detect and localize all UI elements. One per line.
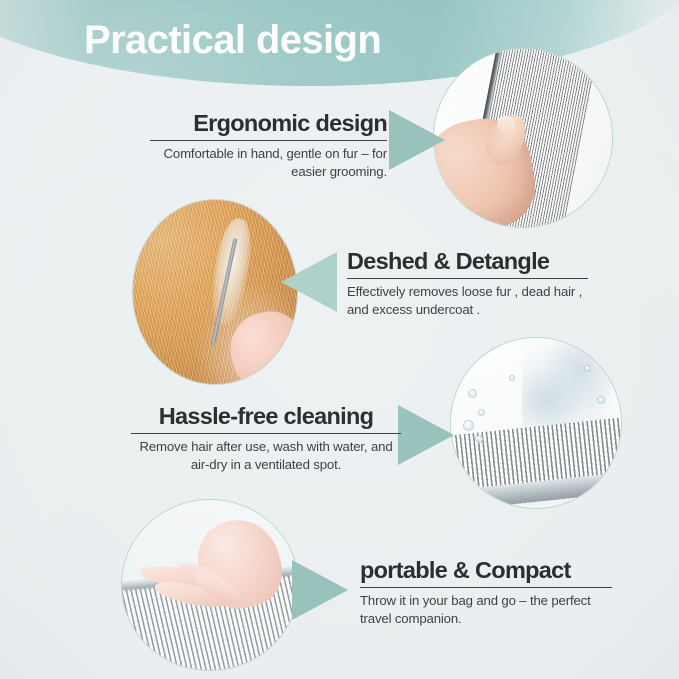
feature-description: Throw it in your bag and go – the perfec… [360, 592, 612, 627]
feature-heading: portable & Compact [360, 557, 612, 584]
water-droplet [584, 365, 591, 372]
pointer-triangle-portable [292, 560, 348, 620]
portable-artwork [122, 500, 298, 670]
heading-rule [150, 140, 387, 141]
product-feature-infographic: Practical design Ergonomic design Comfor… [0, 0, 679, 679]
heading-rule [347, 278, 588, 279]
feature-heading: Deshed & Detangle [347, 248, 588, 275]
cat-fur-combing-photo [132, 199, 298, 385]
feature-block-ergonomic-design: Ergonomic design Comfortable in hand, ge… [150, 110, 387, 180]
hand-holding-comb-photo [433, 48, 613, 228]
feature-description: Comfortable in hand, gentle on fur – for… [150, 145, 387, 180]
pointer-triangle-ergonomic [389, 110, 445, 170]
feature-description: Remove hair after use, wash with water, … [131, 438, 401, 473]
feature-block-hassle-free-cleaning: Hassle-free cleaning Remove hair after u… [131, 403, 401, 473]
feature-block-portable-compact: portable & Compact Throw it in your bag … [360, 557, 612, 627]
feature-heading: Hassle-free cleaning [131, 403, 401, 430]
water-droplet [463, 420, 474, 431]
hand-holding-comb-artwork [434, 49, 612, 227]
heading-rule [360, 587, 612, 588]
pointer-triangle-cleaning [398, 405, 454, 465]
feature-block-deshed-detangle: Deshed & Detangle Effectively removes lo… [347, 248, 588, 318]
water-droplet [468, 389, 477, 398]
hand-on-comb-teeth-photo [121, 499, 299, 671]
pointer-triangle-deshed [281, 252, 337, 312]
water-rinse-artwork [451, 338, 621, 508]
comb-water-rinse-photo [450, 337, 622, 509]
heading-rule [131, 433, 401, 434]
feature-heading: Ergonomic design [150, 110, 387, 137]
feature-description: Effectively removes loose fur , dead hai… [347, 283, 588, 318]
water-droplet [597, 396, 605, 404]
cat-fur-artwork [133, 200, 297, 384]
water-droplet [475, 435, 483, 443]
